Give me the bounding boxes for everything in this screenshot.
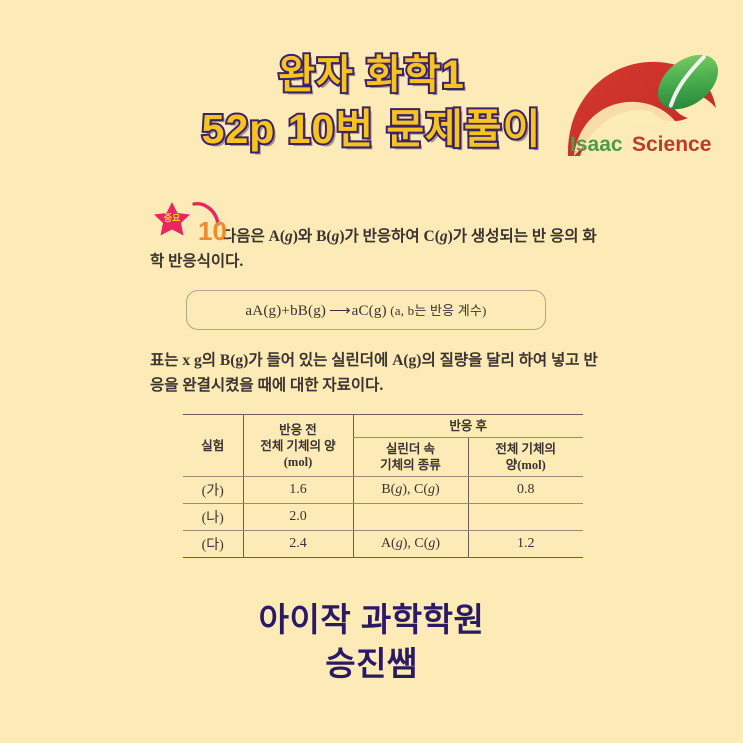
cell-gas-kind: A(g), C(g) [353,531,468,558]
eq-reactant-a: A( [252,303,268,319]
table-head: 실험 반응 전 전체 기체의 양 (mol) 반응 후 실린더 속 기체의 종류… [183,415,583,477]
stmt1-chem-c-end: )가 생성되는 반 [448,228,546,245]
th-after-gas-kind: 실린더 속 기체의 종류 [353,438,468,477]
logo-text-science: Science [632,133,711,156]
eq-reactant-b: B( [298,303,313,319]
stmt1-chem-a-end: )와 [293,228,316,245]
teacher-name: 승진쌤 [0,642,743,686]
badge-number-text: 10 [198,216,227,246]
th-after-group: 반응 후 [353,415,583,438]
eq-arrow: ⟶ [329,303,349,319]
stmt1-chem-c: C( [424,228,440,245]
eq-coef-b: b [290,303,298,319]
gas-sep: ), [402,482,414,497]
isaac-science-logo: Isaac Science [556,38,731,173]
table-header-row-1: 실험 반응 전 전체 기체의 양 (mol) 반응 후 [183,415,583,438]
academy-name: 아이작 과학학원 [0,598,743,642]
stmt1-chem-a: A( [269,228,285,245]
cell-gas-kind: B(g), C(g) [353,477,468,504]
gas2-g: g [428,482,435,497]
data-table-wrapper: 실험 반응 전 전체 기체의 양 (mol) 반응 후 실린더 속 기체의 종류… [183,414,583,558]
badge-label-text: 중요 [164,213,181,223]
th-before-line2: 전체 기체의 양 [246,438,351,454]
cell-experiment: (나) [183,504,243,531]
cell-experiment: (가) [183,477,243,504]
th-before-line3: (mol) [246,454,351,470]
gas-end: ) [435,482,440,497]
table-row: (가) 1.6 B(g), C(g) 0.8 [183,477,583,504]
eq-close1: ) [321,303,326,319]
gas-end: ) [435,536,440,551]
th-experiment: 실험 [183,415,243,477]
eq-note: (a, b는 반응 계수) [387,303,487,318]
stmt1-chem-c-g: g [440,228,448,245]
gas1-g: g [396,536,403,551]
th-after-amount-line1: 전체 기체의 [471,441,582,457]
question-header: 중요 10 다음은 A(g)와 B(g)가 반응하여 C(g)가 생성되는 반 … [150,198,600,274]
star-badge-graphic: 중요 10 [150,200,230,246]
cell-gas-kind [353,504,468,531]
gas2: C( [414,536,428,551]
th-after-kind-line2: 기체의 종류 [356,457,466,473]
stmt2-line1-b: g의 [190,352,220,369]
important-badge: 중요 10 [150,200,230,246]
cell-after-total [468,504,583,531]
stmt2-line1-a: 표는 [150,352,182,369]
stmt2-line1-x: x [182,352,190,369]
problem-card: 중요 10 다음은 A(g)와 B(g)가 반응하여 C(g)가 생성되는 반 … [150,198,600,558]
chemical-equation-box: aA(g)+bB(g)⟶aC(g) (a, b는 반응 계수) [186,290,546,330]
stmt2-line1-c: )가 들어 있는 실린더에 [243,352,392,369]
cell-after-total: 0.8 [468,477,583,504]
gas1: B( [381,482,395,497]
question-statement-2: 표는 x g의 B(g)가 들어 있는 실린더에 A(g)의 질량을 달리 하여… [150,348,600,398]
stmt2-line1-bg: B( [220,352,236,369]
cell-after-total: 1.2 [468,531,583,558]
stmt1-chem-a-g: g [285,228,293,245]
gas-sep: ), [403,536,415,551]
stmt1-chem-b-end: )가 반응하여 [339,228,423,245]
th-after-amount: 전체 기체의 양(mol) [468,438,583,477]
logo-graphic: Isaac Science [556,38,731,173]
th-before-line1: 반응 전 [246,422,351,438]
stmt2-line1-d: )의 질량을 달리 [416,352,514,369]
eq-g3: g [374,303,382,319]
th-before-total: 반응 전 전체 기체의 양 (mol) [243,415,353,477]
cell-before-total: 1.6 [243,477,353,504]
eq-product-c: C( [358,303,373,319]
experiment-data-table: 실험 반응 전 전체 기체의 양 (mol) 반응 후 실린더 속 기체의 종류… [183,414,583,558]
eq-g2: g [313,303,321,319]
gas1: A( [381,536,396,551]
th-after-kind-line1: 실린더 속 [356,441,466,457]
table-row: (다) 2.4 A(g), C(g) 1.2 [183,531,583,558]
th-after-amount-line2: 양(mol) [471,457,582,473]
table-row: (나) 2.0 [183,504,583,531]
cell-before-total: 2.0 [243,504,353,531]
stmt2-line1-ag: A( [392,352,408,369]
cell-experiment: (다) [183,531,243,558]
table-body: (가) 1.6 B(g), C(g) 0.8 (나) 2.0 (다) [183,477,583,558]
eq-plus: )+ [276,303,290,319]
footer: 아이작 과학학원 승진쌤 [0,598,743,686]
logo-text-isaac: Isaac [570,133,623,156]
gas2: C( [414,482,428,497]
cell-before-total: 2.4 [243,531,353,558]
stmt1-chem-b: B( [316,228,332,245]
stmt2-line1-g1: g [235,352,243,369]
header: 완자 화학1 52p 10번 문제풀이 [0,0,743,185]
